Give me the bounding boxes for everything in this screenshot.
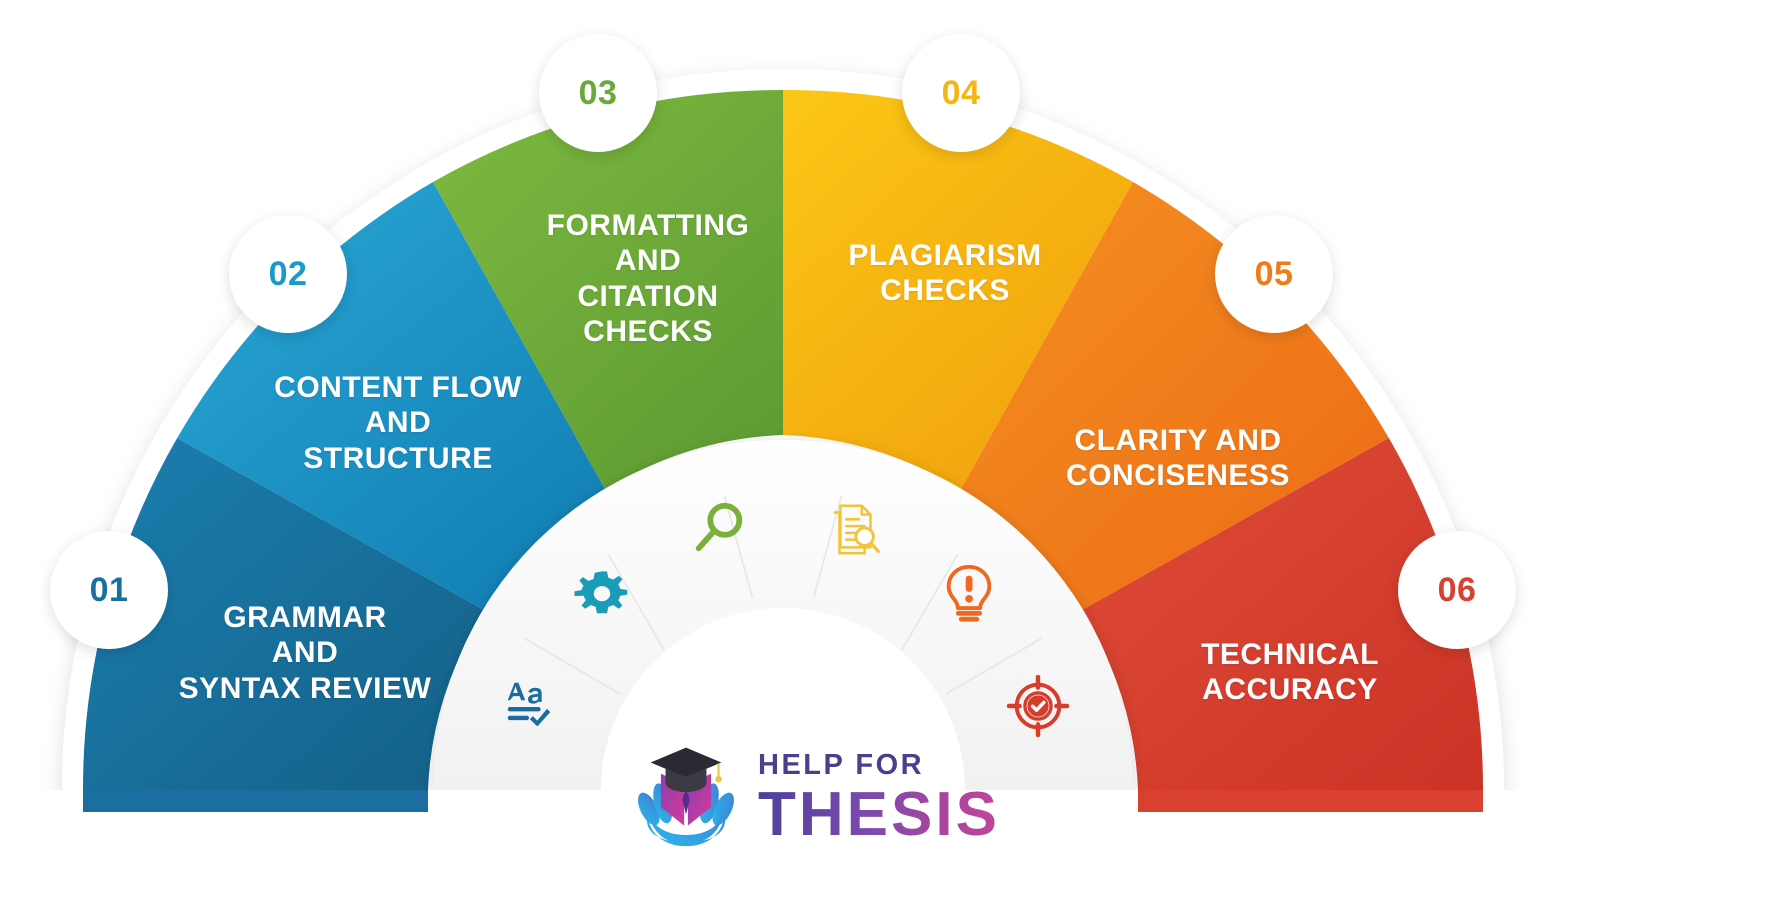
document-search-icon — [823, 498, 885, 560]
step-badge-05[interactable]: 05 — [1215, 215, 1333, 333]
target-check-icon — [1007, 675, 1069, 737]
step-badge-04[interactable]: 04 — [902, 34, 1020, 152]
logo-wordmark: HELP FOR THESIS — [758, 745, 1000, 846]
seg1-foot — [83, 790, 428, 812]
seg6-foot — [1138, 790, 1483, 812]
step-badge-02[interactable]: 02 — [229, 215, 347, 333]
search-icon — [688, 498, 750, 560]
brand-logo[interactable]: HELP FOR THESIS — [630, 735, 1010, 855]
step-badge-01[interactable]: 01 — [50, 531, 168, 649]
step-badge-06[interactable]: 06 — [1398, 531, 1516, 649]
hand-holding-book-graduation-cap-icon — [630, 742, 742, 848]
step-badge-03[interactable]: 03 — [539, 34, 657, 152]
infographic-canvas: GRAMMAR AND SYNTAX REVIEW CONTENT FLOW A… — [0, 0, 1787, 924]
lightbulb-alert-icon — [938, 562, 1000, 624]
logo-line-thesis: THESIS — [758, 784, 1000, 846]
spellcheck-aa-icon — [500, 675, 562, 737]
gear-icon — [571, 562, 633, 624]
logo-line-help-for: HELP FOR — [758, 751, 1000, 780]
